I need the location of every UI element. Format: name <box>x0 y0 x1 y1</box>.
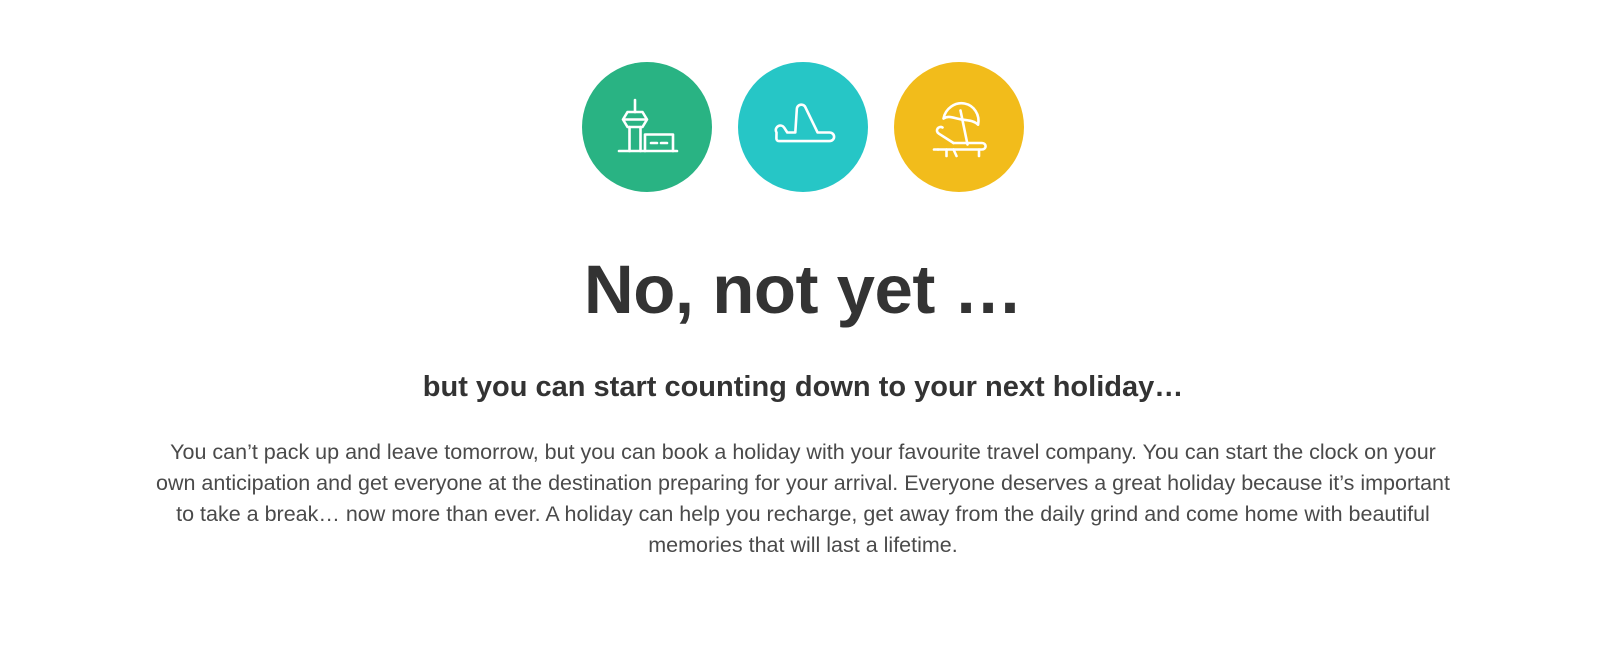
body-paragraph: You can’t pack up and leave tomorrow, bu… <box>153 437 1453 561</box>
icon-badge-control-tower <box>582 62 712 192</box>
beach-lounger-icon <box>920 88 998 166</box>
icon-row <box>582 62 1024 192</box>
page-subtitle: but you can start counting down to your … <box>423 370 1183 405</box>
page-container: No, not yet … but you can start counting… <box>0 0 1606 672</box>
page-title: No, not yet … <box>584 254 1022 326</box>
airplane-icon <box>764 88 842 166</box>
icon-badge-beach-lounger <box>894 62 1024 192</box>
icon-badge-airplane <box>738 62 868 192</box>
control-tower-icon <box>609 89 685 165</box>
